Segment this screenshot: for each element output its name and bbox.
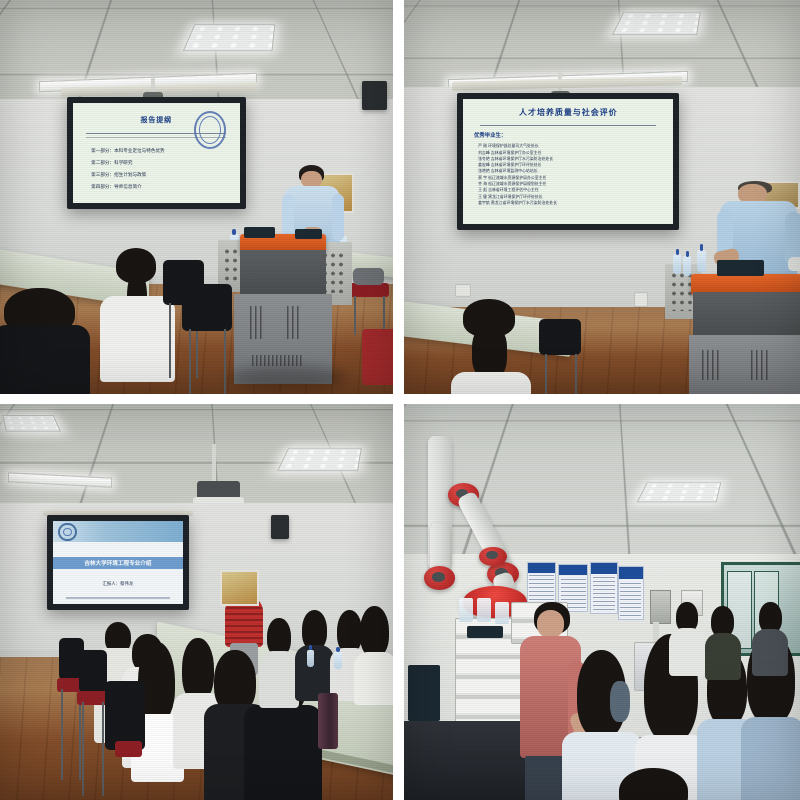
photo-panel-top-left[interactable]: 报告提纲 第一部分：本科专业定位与特色优势 第二部分：科学研究 第三部分：招生计… (0, 0, 393, 394)
student-right-4 (354, 606, 393, 701)
ceiling-led-panel-right (277, 448, 361, 471)
chair-red-corner (362, 315, 393, 394)
podium-front-panel (693, 292, 800, 339)
alumni-row-3: 张冬艳 吉林省环境保护厅水污染防治处处长 (478, 156, 553, 162)
podium-monitor (244, 227, 275, 239)
chair-foreground (535, 319, 590, 394)
university-seal-icon (58, 523, 76, 541)
wall-speaker-icon (271, 515, 289, 539)
alumni-row-2: 刘吉峰 吉林省环境保护厅办公室主任 (478, 150, 541, 156)
reagent-bottle-2 (477, 598, 491, 622)
photo-panel-bottom-right[interactable] (404, 404, 800, 800)
projection-screen: 人才培养质量与社会评价 优秀毕业生： 严 刚 环境保护部总量司大气处处长 刘吉峰… (457, 93, 679, 231)
ceiling-led-panel (612, 12, 701, 35)
thermos-flask (318, 693, 338, 748)
podium-vent-left (250, 306, 264, 339)
alumni-row-10: 姜宇航 黑龙江省环境保护厅水污染防治处处长 (478, 200, 557, 206)
wall-poster-behind-presenter (220, 570, 259, 606)
slide-title: 人才培养质量与社会评价 (480, 107, 656, 118)
hplc-display (467, 626, 503, 638)
computer-monitor (408, 665, 440, 720)
projection-screen: 吉林大学环境工程专业介绍 汇报人：蔡伟龙 (47, 515, 188, 610)
ceiling-led-panel (183, 24, 275, 50)
slide-title: 吉林大学环境工程专业介绍 (53, 559, 182, 567)
student-right-2 (295, 610, 334, 697)
lab-student-back-1 (669, 602, 705, 673)
fume-arm-joint-lower (479, 547, 507, 567)
student-foreground (448, 299, 535, 394)
podium-front-panel (240, 250, 326, 297)
slide-surface: 人才培养质量与社会评价 优秀毕业生： 严 刚 环境保护部总量司大气处处长 刘吉峰… (463, 99, 673, 225)
projection-screen: 报告提纲 第一部分：本科专业定位与特色优势 第二部分：科学研究 第三部分：招生计… (67, 97, 246, 209)
reagent-bottle-1 (459, 598, 473, 622)
alumni-row-7: 齐 海 松辽流域水资源保护局规划处主任 (478, 181, 546, 187)
ceiling-projector-mount (212, 444, 216, 484)
water-bottle-table-1 (307, 650, 315, 668)
wall-speaker-icon (362, 81, 388, 111)
ceiling-led-panel (636, 483, 721, 503)
slide-divider (86, 133, 226, 134)
slide-bullet-2: 第二部分：科学研究 (91, 160, 132, 166)
water-bottle-a (673, 254, 681, 274)
alumni-row-5: 张艳艳 吉林省环境监测中心站站长 (478, 168, 537, 174)
photo-collage: 报告提纲 第一部分：本科专业定位与特色优势 第二部分：科学研究 第三部分：招生计… (0, 0, 800, 800)
reagent-bottle-3 (495, 602, 509, 624)
wall-outlet-left[interactable] (455, 284, 471, 298)
slide-title: 报告提纲 (86, 115, 226, 125)
slide-presenter: 汇报人：蔡伟龙 (53, 581, 182, 587)
slide-footer-rule (66, 597, 170, 599)
alumni-row-4: 姜宏峰 吉林省环境保护厅环评处处长 (478, 162, 541, 168)
student-right-1 (259, 618, 298, 705)
podium-base (689, 335, 800, 394)
alumni-row-6: 蔡 宇 松辽流域水资源保护局办公室主任 (478, 175, 546, 181)
podium-monitor (717, 260, 765, 276)
lab-student-foreground (610, 768, 697, 800)
lab-student-back-2 (705, 606, 741, 677)
podium-vent-right (287, 306, 301, 339)
slide-surface: 吉林大学环境工程专业介绍 汇报人：蔡伟龙 (53, 521, 182, 604)
lab-poster-4 (618, 566, 644, 619)
slide-divider-2 (86, 137, 226, 138)
wall-outlet-right[interactable] (634, 292, 648, 308)
alumni-row-9: 王 健 黑龙江省环境保护厅环评处处长 (478, 194, 542, 200)
podium-monitor-2 (295, 229, 323, 239)
podium-vent-bottom (252, 355, 303, 366)
podium-vent-right (751, 350, 769, 380)
podium-vent-left (702, 350, 720, 380)
ceiling-led-panel-left (2, 415, 61, 431)
alumni-row-1: 严 刚 环境保护部总量司大气处处长 (478, 143, 539, 149)
slide-subtitle: 优秀毕业生： (474, 131, 506, 139)
photo-panel-top-right[interactable]: 人才培养质量与社会评价 优秀毕业生： 严 刚 环境保护部总量司大气处处长 刘吉峰… (404, 0, 800, 394)
electrical-panel-grey (650, 590, 672, 624)
lab-student-back-3 (752, 602, 788, 673)
slide-surface: 报告提纲 第一部分：本科专业定位与特色优势 第二部分：科学研究 第三部分：招生计… (73, 103, 240, 203)
slide-bullet-1: 第一部分：本科专业定位与特色优势 (91, 148, 165, 154)
alumni-row-8: 王 彪 吉林省环境工程评估中心主任 (478, 187, 539, 193)
slide-divider (480, 125, 656, 126)
water-bottle-table-2 (334, 652, 342, 670)
lab-poster-3 (590, 562, 618, 614)
slide-bullet-3: 第三部分：招生计划与政策 (91, 172, 146, 178)
photo-panel-bottom-left[interactable]: 吉林大学环境工程专业介绍 汇报人：蔡伟龙 (0, 404, 393, 800)
water-bottle-b (683, 256, 691, 276)
slide-bullet-4: 第四部分：导师信息简介 (91, 184, 142, 190)
chair-draped-jacket (102, 681, 157, 800)
student-foreground-left (0, 288, 90, 394)
water-bottle-c (697, 250, 706, 272)
